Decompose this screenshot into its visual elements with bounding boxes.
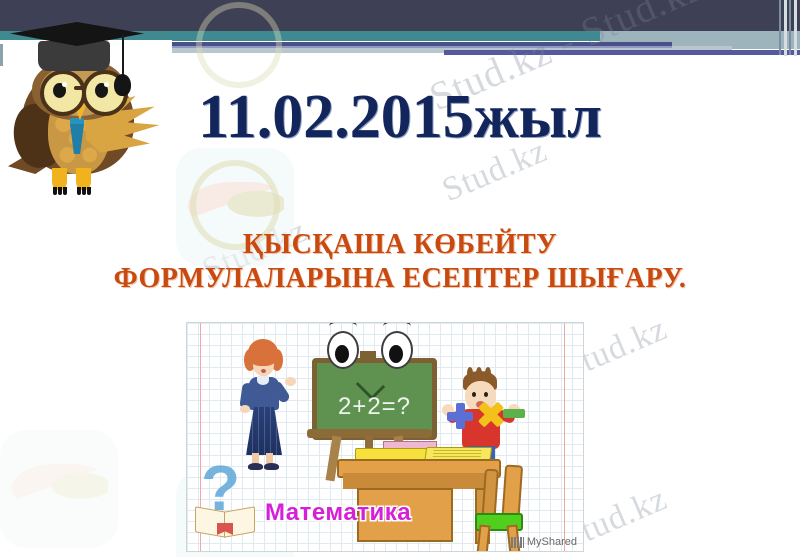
multiply-symbol-icon [477, 401, 503, 427]
subject-label: Математика [265, 499, 411, 527]
owl-glasses-left-icon [40, 70, 86, 116]
minus-symbol-icon [503, 409, 525, 418]
header-accent-line-2 [444, 50, 800, 55]
header-tick-3 [784, 0, 787, 56]
plus-symbol-icon [447, 403, 473, 429]
chalkboard: 2+2=? [312, 358, 437, 440]
myshared-logo-icon [511, 537, 524, 548]
open-book-icon [195, 505, 253, 535]
subtitle-line-1: ҚЫСҚАША КӨБЕЙТУ [0, 228, 800, 262]
owl-foot-right-icon [76, 168, 91, 190]
attribution-watermark: MyShared [511, 536, 577, 548]
attribution-text: MyShared [527, 536, 577, 548]
header-accent-line-1b [172, 46, 672, 48]
graduate-owl-mascot [4, 8, 164, 208]
presentation-slide: Stud.kz - Stud.kz Stud.kz Stud.kz Stud.k… [0, 0, 800, 557]
chalkboard-eye-left-icon [327, 331, 359, 369]
classroom-illustration: 2+2=? [186, 322, 584, 552]
paper-margin-line-right [564, 323, 565, 551]
page-subtitle: ҚЫСҚАША КӨБЕЙТУ ФОРМУЛАЛАРЫНА ЕСЕПТЕР ШЫ… [0, 228, 800, 296]
header-tick-2 [789, 0, 791, 55]
header-tick-1 [779, 0, 781, 55]
subtitle-line-2: ФОРМУЛАЛАРЫНА ЕСЕПТЕР ШЫҒАРУ. [0, 262, 800, 296]
watermark-logo-icon [0, 430, 118, 548]
teacher-figure [239, 339, 287, 469]
header-tick-4 [794, 0, 797, 56]
chalkboard-equation: 2+2=? [317, 393, 432, 421]
cap-tassel-icon [114, 74, 131, 96]
graduation-cap-base-icon [38, 41, 110, 71]
header-left-rule [0, 44, 3, 66]
owl-foot-left-icon [52, 168, 67, 190]
chalkboard-eye-right-icon [381, 331, 413, 369]
